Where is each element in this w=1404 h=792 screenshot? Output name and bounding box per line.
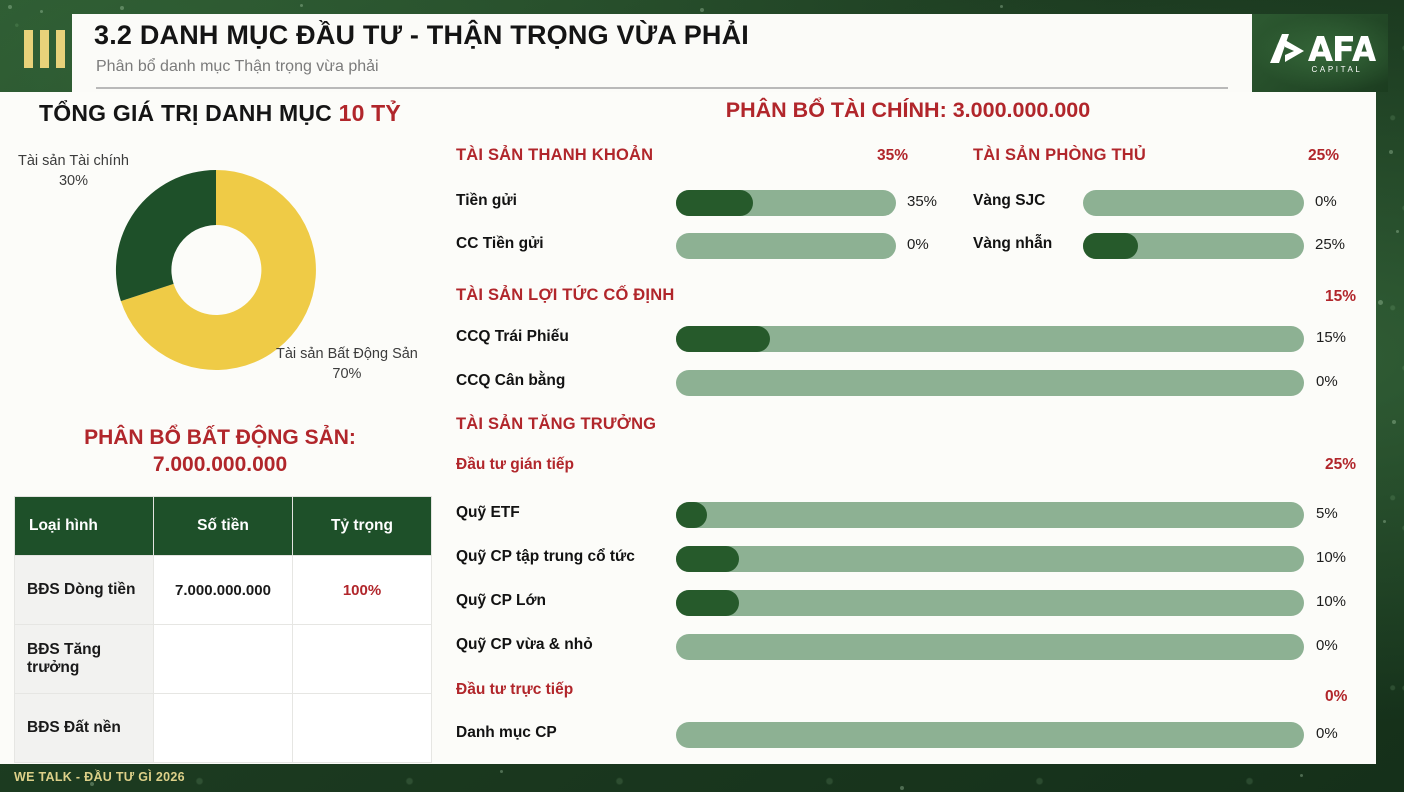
bar-fill (676, 326, 770, 352)
bar-track (676, 546, 1304, 572)
bar-row-tien-gui: Tiền gửi 35% (456, 188, 916, 218)
bar-label: Vàng nhẫn (973, 235, 1052, 253)
subsection-heading-direct: Đầu tư trực tiếp (456, 681, 573, 699)
bar-label: Quỹ ETF (456, 504, 520, 522)
background-speck (1383, 520, 1386, 523)
section-pct-fixed-income: 15% (1325, 288, 1356, 306)
cell-type: BĐS Đất nền (15, 694, 154, 763)
bar-track (676, 370, 1304, 396)
right-panel: PHÂN BỔ TÀI CHÍNH: 3.000.000.000 TÀI SẢN… (440, 92, 1376, 764)
cell-type: BĐS Dòng tiền (15, 556, 154, 625)
portfolio-total-title: TỔNG GIÁ TRỊ DANH MỤC 10 TỶ (0, 100, 440, 127)
bar-value: 25% (1315, 236, 1345, 253)
realestate-table: Loại hình Số tiền Tỷ trọng BĐS Dòng tiền… (14, 496, 432, 763)
portfolio-total-label: TỔNG GIÁ TRỊ DANH MỤC (39, 100, 332, 126)
donut-label-financial: Tài sản Tài chính 30% (18, 152, 129, 191)
bar-fill (676, 190, 753, 216)
table-row: BĐS Tăng trưởng (15, 625, 432, 694)
background-speck (1389, 150, 1393, 154)
bar-row-cc-tien-gui: CC Tiền gửi 0% (456, 231, 916, 261)
donut-label-realestate-text: Tài sản Bất Động Sản (276, 346, 418, 362)
bar-row-quy-cp-vua-nho: Quỹ CP vừa & nhỏ 0% (456, 632, 1356, 662)
header-title-panel: 3.2 DANH MỤC ĐẦU TƯ - THẬN TRỌNG VỪA PHẢ… (72, 14, 1252, 92)
bar-value: 0% (1316, 725, 1338, 742)
afa-capital-logo: CAPITAL (1252, 14, 1388, 92)
bar-track (1083, 233, 1304, 259)
donut-label-realestate-pct: 70% (276, 365, 418, 385)
bar-track (676, 326, 1304, 352)
column-header-amount: Số tiền (154, 497, 293, 556)
footer-label: WE TALK - ĐẦU TƯ GÌ 2026 (14, 770, 185, 784)
bar-track (676, 722, 1304, 748)
section-pct-defensive: 25% (1308, 147, 1339, 165)
cell-amount (154, 625, 293, 694)
slide-footer: WE TALK - ĐẦU TƯ GÌ 2026 (0, 764, 1404, 792)
bar-fill (1083, 233, 1138, 259)
bar-value: 0% (1315, 193, 1337, 210)
header-divider (96, 87, 1228, 89)
subsection-pct-indirect: 25% (1325, 456, 1356, 474)
slide-body: TỔNG GIÁ TRỊ DANH MỤC 10 TỶ Tài sản Tài … (0, 92, 1376, 764)
table-header-row: Loại hình Số tiền Tỷ trọng (15, 497, 432, 556)
logo-tagline: CAPITAL (1312, 65, 1363, 74)
bar-fill (676, 590, 739, 616)
bar-label: Quỹ CP vừa & nhỏ (456, 636, 593, 654)
bar-row-quy-cp-co-tuc: Quỹ CP tập trung cổ tức 10% (456, 544, 1356, 574)
background-speck (1392, 420, 1396, 424)
realestate-title-line1: PHÂN BỔ BẤT ĐỘNG SẢN: (20, 424, 420, 451)
cell-amount: 7.000.000.000 (154, 556, 293, 625)
section-heading-liquid: TÀI SẢN THANH KHOẢN (456, 146, 653, 165)
subsection-heading-indirect: Đầu tư gián tiếp (456, 456, 574, 474)
background-speck (1378, 300, 1383, 305)
cell-weight (293, 625, 432, 694)
table-row: BĐS Đất nền (15, 694, 432, 763)
bar-value: 35% (907, 193, 937, 210)
section-pct-liquid: 35% (877, 147, 908, 165)
portfolio-total-value: 10 TỶ (339, 100, 401, 126)
bar-value: 0% (907, 236, 929, 253)
realestate-allocation-title: PHÂN BỔ BẤT ĐỘNG SẢN: 7.000.000.000 (20, 424, 420, 479)
finance-allocation-title: PHÂN BỔ TÀI CHÍNH: 3.000.000.000 (440, 98, 1376, 123)
bar-row-quy-etf: Quỹ ETF 5% (456, 500, 1356, 530)
bar-label: Tiền gửi (456, 192, 517, 210)
column-header-type: Loại hình (15, 497, 154, 556)
donut-label-financial-pct: 30% (18, 172, 129, 192)
background-speck (1396, 230, 1399, 233)
bar-label: CCQ Trái Phiếu (456, 328, 569, 346)
page-subtitle: Phân bổ danh mục Thận trọng vừa phải (96, 58, 379, 76)
bar-label: Quỹ CP tập trung cổ tức (456, 548, 635, 566)
bar-value: 0% (1316, 637, 1338, 654)
bar-row-vang-nhan: Vàng nhẫn 25% (973, 231, 1373, 261)
bar-track (676, 233, 896, 259)
cell-weight (293, 694, 432, 763)
table-row: BĐS Dòng tiền 7.000.000.000 100% (15, 556, 432, 625)
slide-header: 3.2 DANH MỤC ĐẦU TƯ - THẬN TRỌNG VỪA PHẢ… (0, 0, 1404, 92)
bar-label: Vàng SJC (973, 192, 1045, 210)
bar-row-ccq-trai-phieu: CCQ Trái Phiếu 15% (456, 324, 1356, 354)
bar-row-danh-muc-cp: Danh mục CP 0% (456, 720, 1356, 750)
column-header-weight: Tỷ trọng (293, 497, 432, 556)
bar-value: 10% (1316, 549, 1346, 566)
left-panel: TỔNG GIÁ TRỊ DANH MỤC 10 TỶ Tài sản Tài … (0, 92, 440, 764)
bar-label: Danh mục CP (456, 724, 557, 742)
bar-value: 5% (1316, 505, 1338, 522)
section-heading-defensive: TÀI SẢN PHÒNG THỦ (973, 146, 1146, 165)
donut-slice-financial (116, 170, 216, 301)
bar-track (676, 190, 896, 216)
cell-amount (154, 694, 293, 763)
donut-label-realestate: Tài sản Bất Động Sản 70% (276, 345, 418, 384)
donut-label-financial-text: Tài sản Tài chính (18, 153, 129, 169)
section-heading-growth: TÀI SẢN TĂNG TRƯỞNG (456, 415, 656, 434)
bar-row-vang-sjc: Vàng SJC 0% (973, 188, 1373, 218)
bar-value: 0% (1316, 373, 1338, 390)
bar-fill (676, 502, 707, 528)
afa-logo-icon: CAPITAL (1264, 30, 1376, 76)
cell-weight: 100% (293, 556, 432, 625)
bar-label: CC Tiền gửi (456, 235, 544, 253)
page-title: 3.2 DANH MỤC ĐẦU TƯ - THẬN TRỌNG VỪA PHẢ… (94, 20, 749, 51)
bar-track (1083, 190, 1304, 216)
section-heading-fixed-income: TÀI SẢN LỢI TỨC CỐ ĐỊNH (456, 286, 674, 305)
bar-track (676, 590, 1304, 616)
bar-fill (676, 546, 739, 572)
bar-track (676, 502, 1304, 528)
subsection-pct-direct: 0% (1325, 688, 1347, 706)
bar-value: 15% (1316, 329, 1346, 346)
bars-logo-icon (18, 28, 70, 70)
bar-row-ccq-can-bang: CCQ Cân bằng 0% (456, 368, 1356, 398)
bar-label: Quỹ CP Lớn (456, 592, 546, 610)
bar-row-quy-cp-lon: Quỹ CP Lớn 10% (456, 588, 1356, 618)
bar-label: CCQ Cân bằng (456, 372, 565, 390)
cell-type: BĐS Tăng trưởng (15, 625, 154, 694)
bar-track (676, 634, 1304, 660)
bar-value: 10% (1316, 593, 1346, 610)
realestate-title-line2: 7.000.000.000 (20, 451, 420, 478)
